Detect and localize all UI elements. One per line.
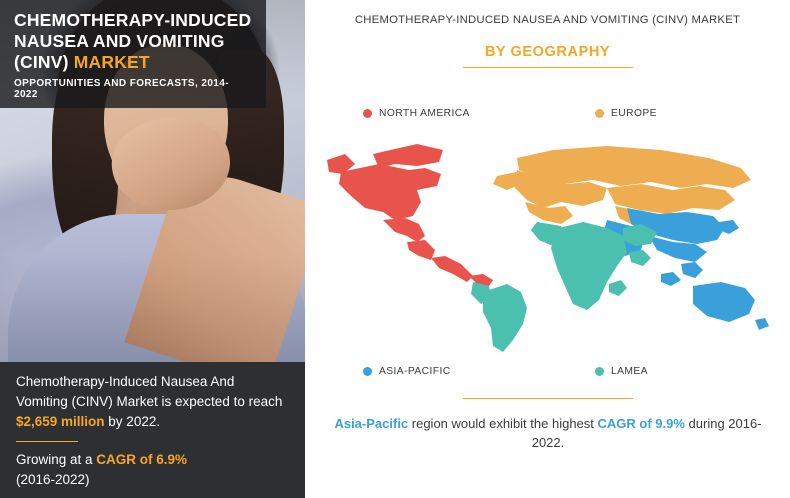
title-line-3-bold: (CINV): [14, 52, 69, 72]
footer-insight: Asia-Pacific region would exhibit the hi…: [327, 414, 769, 452]
title-line-3-accent: MARKET: [74, 52, 150, 72]
chart-subtitle: BY GEOGRAPHY: [305, 44, 790, 60]
legend-dot-north-america-icon: [363, 109, 372, 118]
left-stats-block: Chemotherapy-Induced Nausea And Vomiting…: [0, 362, 305, 498]
market-size-text-post: by 2022.: [105, 414, 161, 429]
right-panel: CHEMOTHERAPY-INDUCED NAUSEA AND VOMITING…: [305, 0, 790, 498]
title-block: CHEMOTHERAPY-INDUCED NAUSEA AND VOMITING…: [0, 0, 266, 108]
market-size-text-pre: Chemotherapy-Induced Nausea And Vomiting…: [16, 374, 282, 409]
legend-item-north-america: NORTH AMERICA: [363, 108, 470, 119]
world-map-svg: [321, 124, 776, 359]
cagr-value: CAGR of 6.9%: [96, 452, 187, 467]
legend-dot-lamea-icon: [595, 367, 604, 376]
legend-item-asia-pacific: ASIA-PACIFIC: [363, 366, 451, 377]
legend-label-asia-pacific: ASIA-PACIFIC: [379, 366, 451, 377]
legend-item-lamea: LAMEA: [595, 366, 648, 377]
page-subtitle: OPPORTUNITIES AND FORECASTS, 2014-2022: [14, 78, 252, 100]
map-region-north-america: [327, 144, 493, 286]
footer-region: Asia-Pacific: [334, 416, 408, 431]
title-line-1: CHEMOTHERAPY-INDUCED: [14, 10, 251, 30]
market-size-statement: Chemotherapy-Induced Nausea And Vomiting…: [16, 372, 289, 432]
legend-label-lamea: LAMEA: [611, 366, 648, 377]
footer-divider: [463, 398, 633, 399]
left-panel: CHEMOTHERAPY-INDUCED NAUSEA AND VOMITING…: [0, 0, 305, 498]
legend-dot-asia-pacific-icon: [363, 367, 372, 376]
world-map: [321, 124, 776, 359]
infographic-page: CHEMOTHERAPY-INDUCED NAUSEA AND VOMITING…: [0, 0, 790, 498]
legend-dot-europe-icon: [595, 109, 604, 118]
map-region-lamea: [471, 222, 657, 352]
legend-item-europe: EUROPE: [595, 108, 657, 119]
legend-label-north-america: NORTH AMERICA: [379, 108, 470, 119]
legend-label-europe: EUROPE: [611, 108, 657, 119]
cagr-text-pre: Growing at a: [16, 452, 96, 467]
cagr-period: (2016-2022): [16, 472, 90, 487]
map-region-asia-pacific: [603, 208, 769, 330]
stats-divider: [16, 441, 78, 442]
footer-mid: region would exhibit the highest: [408, 416, 597, 431]
page-title: CHEMOTHERAPY-INDUCED NAUSEA AND VOMITING…: [14, 10, 252, 73]
footer-cagr: CAGR of 9.9%: [598, 416, 685, 431]
chart-title: CHEMOTHERAPY-INDUCED NAUSEA AND VOMITING…: [305, 14, 790, 26]
market-size-amount: $2,659 million: [16, 414, 105, 429]
subtitle-divider: [463, 67, 633, 68]
title-line-2: NAUSEA AND VOMITING: [14, 31, 225, 51]
cagr-statement: Growing at a CAGR of 6.9% (2016-2022): [16, 450, 289, 490]
